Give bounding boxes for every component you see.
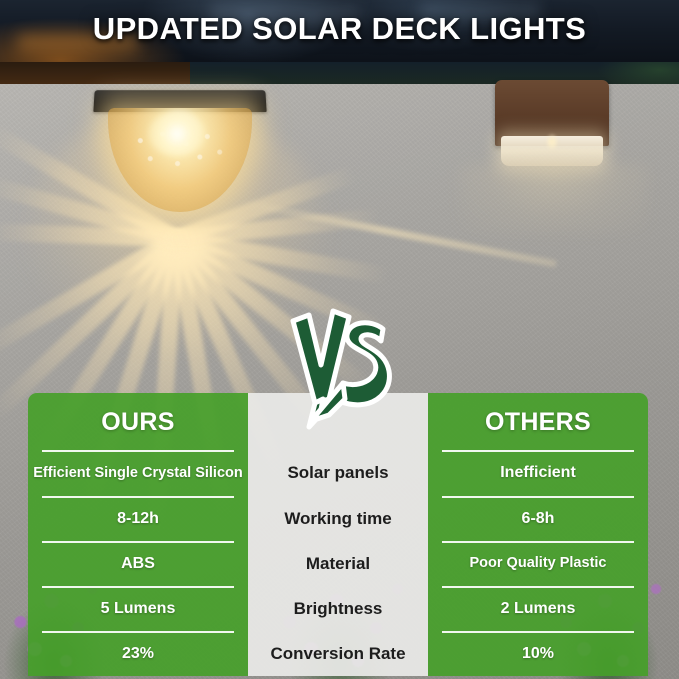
product-comparison-image: UPDATED SOLAR DECK LIGHTS bbox=[0, 0, 679, 679]
cell-others-solar-panels: Inefficient bbox=[428, 450, 648, 496]
cell-feature-conversion-rate: Conversion Rate bbox=[248, 631, 428, 676]
cell-feature-solar-panels: Solar panels bbox=[248, 450, 428, 496]
table-row: 8-12h Working time 6-8h bbox=[28, 496, 648, 541]
cell-feature-working-time: Working time bbox=[248, 496, 428, 541]
cell-ours-brightness: 5 Lumens bbox=[28, 586, 248, 631]
led-core-glow bbox=[148, 112, 206, 156]
cell-ours-material: ABS bbox=[28, 541, 248, 586]
page-title: UPDATED SOLAR DECK LIGHTS bbox=[0, 11, 679, 47]
cell-others-brightness: 2 Lumens bbox=[428, 586, 648, 631]
table-row: 23% Conversion Rate 10% bbox=[28, 631, 648, 676]
header-banner: UPDATED SOLAR DECK LIGHTS bbox=[0, 0, 679, 66]
cell-ours-working-time: 8-12h bbox=[28, 496, 248, 541]
competitor-light-spill bbox=[459, 164, 649, 234]
cell-feature-material: Material bbox=[248, 541, 428, 586]
column-header-ours: OURS bbox=[28, 393, 248, 450]
table-row: ABS Material Poor Quality Plastic bbox=[28, 541, 648, 586]
cell-feature-brightness: Brightness bbox=[248, 586, 428, 631]
others-deck-light bbox=[489, 80, 615, 192]
competitor-bulb bbox=[547, 134, 557, 150]
cell-others-material: Poor Quality Plastic bbox=[428, 541, 648, 586]
table-row: Efficient Single Crystal Silicon Solar p… bbox=[28, 450, 648, 496]
cell-ours-solar-panels: Efficient Single Crystal Silicon bbox=[28, 450, 248, 496]
table-row: 5 Lumens Brightness 2 Lumens bbox=[28, 586, 648, 631]
comparison-table: OURS OTHERS Efficient Single Crystal Sil… bbox=[28, 393, 648, 679]
column-header-others: OTHERS bbox=[428, 393, 648, 450]
cell-others-working-time: 6-8h bbox=[428, 496, 648, 541]
cell-others-conversion-rate: 10% bbox=[428, 631, 648, 676]
cell-ours-conversion-rate: 23% bbox=[28, 631, 248, 676]
vs-badge-icon bbox=[287, 303, 395, 431]
